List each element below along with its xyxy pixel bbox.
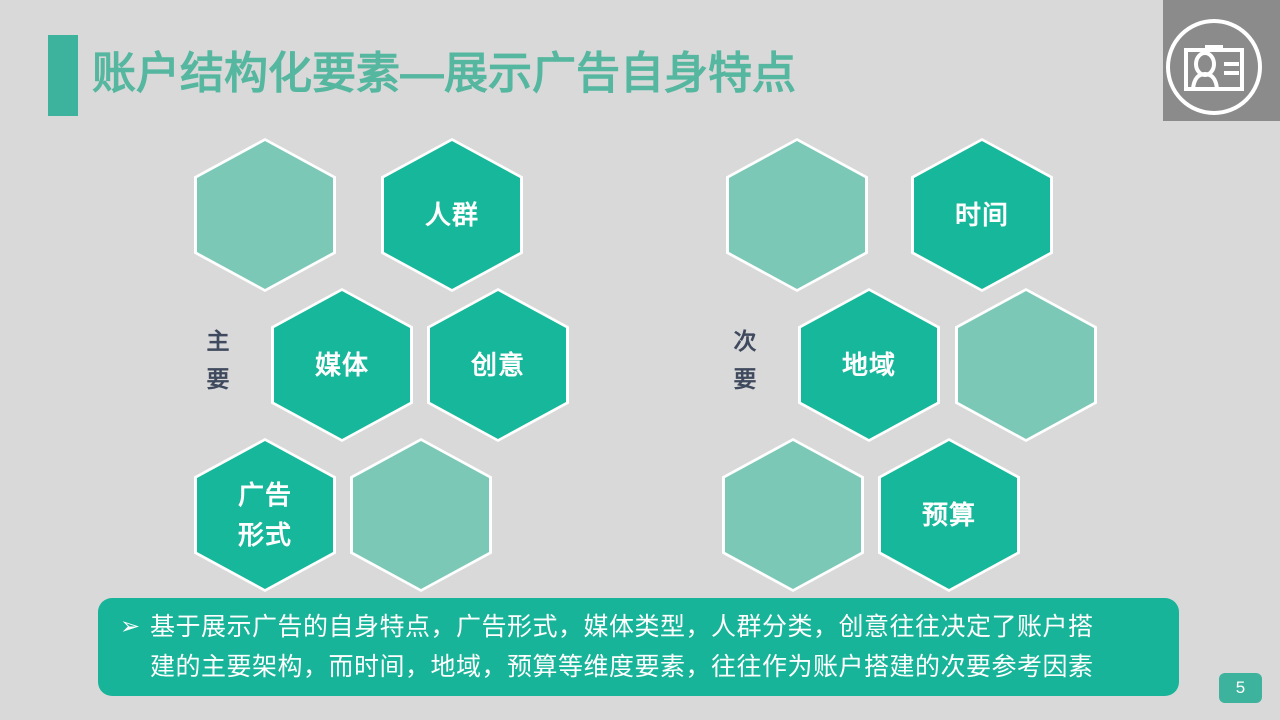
hex-label: 媒体 [315, 345, 369, 385]
group-label-primary-char2: 要 [196, 360, 242, 398]
group-label-secondary-char2: 要 [723, 360, 769, 398]
hex-label: 创意 [471, 345, 525, 385]
group-label-secondary: 次 要 [723, 322, 769, 398]
summary-line-1: 基于展示广告的自身特点，广告形式，媒体类型，人群分类，创意往往决定了账户搭 [150, 607, 1094, 647]
bullet-arrow-icon: ➢ [120, 607, 150, 647]
page-title: 账户结构化要素—展示广告自身特点 [92, 44, 796, 104]
hex-secondary-empty-1[interactable] [726, 138, 868, 292]
group-label-primary: 主 要 [196, 322, 242, 398]
hex-secondary-shijian[interactable]: 时间 [911, 138, 1053, 292]
slide-canvas: 账户结构化要素—展示广告自身特点 主 要 人群 媒体 创意 广告 形式 次 要 [0, 0, 1280, 720]
hex-primary-chuangyi[interactable]: 创意 [427, 288, 569, 442]
title-accent-bar [48, 35, 78, 116]
summary-banner: ➢ 基于展示广告的自身特点，广告形式，媒体类型，人群分类，创意往往决定了账户搭 … [98, 598, 1179, 696]
hex-secondary-diyu[interactable]: 地域 [798, 288, 940, 442]
group-label-secondary-char1: 次 [723, 322, 769, 360]
hex-label: 地域 [842, 345, 896, 385]
hex-secondary-empty-2[interactable] [955, 288, 1097, 442]
hex-primary-empty-1[interactable] [194, 138, 336, 292]
hex-secondary-yusuan[interactable]: 预算 [878, 438, 1020, 592]
id-badge-icon [1166, 19, 1262, 115]
hex-label: 广告 形式 [238, 475, 292, 555]
hex-label: 预算 [922, 495, 976, 535]
hex-primary-guanggaoxingshi[interactable]: 广告 形式 [194, 438, 336, 592]
hex-label: 时间 [955, 195, 1009, 235]
hex-label: 人群 [425, 195, 479, 235]
hex-primary-renqun[interactable]: 人群 [381, 138, 523, 292]
hex-primary-meiti[interactable]: 媒体 [271, 288, 413, 442]
hex-primary-empty-2[interactable] [350, 438, 492, 592]
summary-line-2: 建的主要架构，而时间，地域，预算等维度要素，往往作为账户搭建的次要参考因素 [120, 647, 1157, 687]
group-label-primary-char1: 主 [196, 322, 242, 360]
hex-secondary-empty-3[interactable] [722, 438, 864, 592]
page-number-badge: 5 [1219, 673, 1262, 703]
